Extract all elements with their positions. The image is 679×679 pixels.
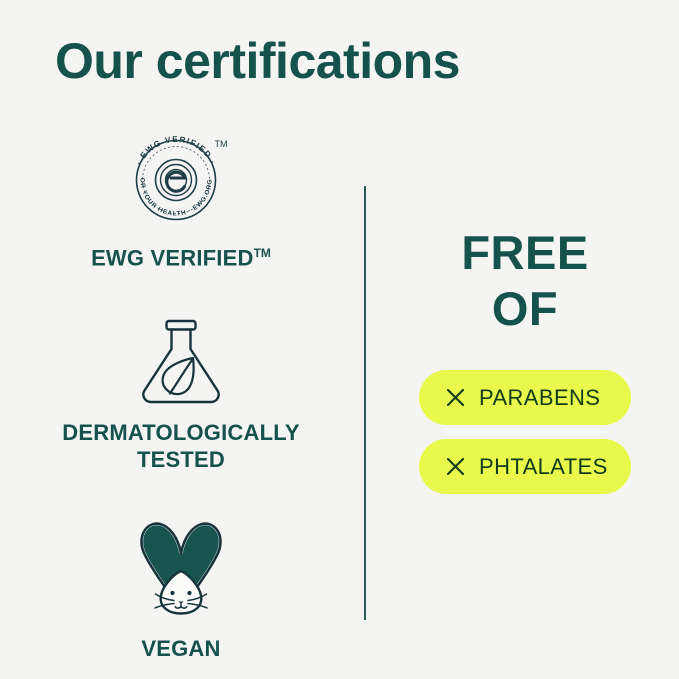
free-of-pill-label: PHTALATES bbox=[479, 454, 608, 480]
free-of-pill-phtalates[interactable]: PHTALATES bbox=[419, 439, 631, 494]
ewg-verified-seal-icon: · EWG VERIFIED · FOR YOUR HEALTH · EWG.O… bbox=[126, 130, 236, 226]
certifications-panel: Our certifications · EWG VERIFIED bbox=[0, 0, 679, 679]
x-icon bbox=[445, 456, 466, 477]
certification-label-ewg-verified: EWG VERIFIEDTM bbox=[91, 240, 271, 271]
svg-text:TM: TM bbox=[215, 139, 228, 149]
trademark-symbol: TM bbox=[254, 246, 271, 260]
free-of-heading: FREE OF bbox=[461, 225, 588, 337]
free-of-pill-parabens[interactable]: PARABENS bbox=[419, 370, 631, 425]
certification-item-vegan: VEGAN bbox=[22, 513, 340, 662]
certification-item-ewg-verified: · EWG VERIFIED · FOR YOUR HEALTH · EWG.O… bbox=[22, 130, 340, 271]
flask-with-leaf-icon bbox=[133, 313, 229, 405]
column-divider bbox=[364, 186, 366, 620]
rabbit-heart-ears-icon bbox=[122, 513, 240, 621]
free-of-section: FREE OF PARABENS PHTALATES bbox=[380, 225, 670, 494]
free-of-pill-label: PARABENS bbox=[479, 385, 600, 411]
certifications-list: · EWG VERIFIED · FOR YOUR HEALTH · EWG.O… bbox=[22, 130, 340, 662]
certification-label-vegan: VEGAN bbox=[141, 635, 220, 662]
free-of-pill-list: PARABENS PHTALATES bbox=[380, 370, 670, 494]
certification-item-dermatologically-tested: DERMATOLOGICALLY TESTED bbox=[22, 313, 340, 473]
svg-text:· EWG VERIFIED ·: · EWG VERIFIED · bbox=[134, 134, 219, 167]
certification-label-text: EWG VERIFIED bbox=[91, 245, 254, 270]
certification-label-dermatologically-tested: DERMATOLOGICALLY TESTED bbox=[62, 419, 299, 473]
page-title: Our certifications bbox=[55, 32, 460, 90]
x-icon bbox=[445, 387, 466, 408]
